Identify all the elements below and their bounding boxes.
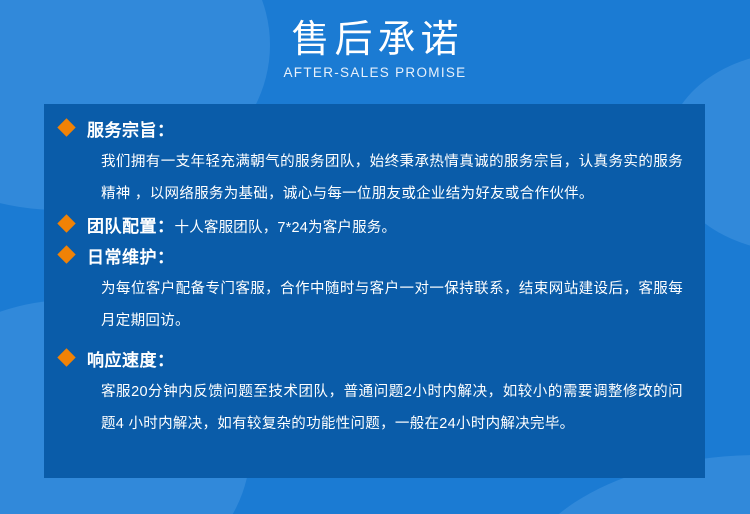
after-sales-promise-banner: 售后承诺 AFTER-SALES PROMISE 服务宗旨： 我们拥有一支年轻充… <box>0 0 750 514</box>
promise-section: 服务宗旨： 我们拥有一支年轻充满朝气的服务团队，始终秉承热情真诚的服务宗旨，认真… <box>60 116 683 210</box>
diamond-bullet-icon <box>57 245 75 263</box>
section-body: 客服20分钟内反馈问题至技术团队，普通问题2小时内解决，如较小的需要调整修改的问… <box>60 376 683 440</box>
spacer <box>60 337 683 346</box>
page-title: 售后承诺 <box>0 16 750 62</box>
promise-section: 日常维护： 为每位客户配备专门客服，合作中随时与客户一对一保持联系，结束网站建设… <box>60 243 683 337</box>
section-heading: 响应速度： <box>60 346 683 376</box>
diamond-bullet-icon <box>57 348 75 366</box>
section-title: 响应速度： <box>87 346 175 376</box>
page-subtitle: AFTER-SALES PROMISE <box>0 64 750 82</box>
section-title: 日常维护： <box>87 243 175 273</box>
promise-content-panel: 服务宗旨： 我们拥有一支年轻充满朝气的服务团队，始终秉承热情真诚的服务宗旨，认真… <box>44 104 705 478</box>
banner-header: 售后承诺 AFTER-SALES PROMISE <box>0 16 750 82</box>
diamond-bullet-icon <box>57 214 75 232</box>
section-body: 我们拥有一支年轻充满朝气的服务团队，始终秉承热情真诚的服务宗旨，认真务实的服务精… <box>60 146 683 210</box>
section-body: 为每位客户配备专门客服，合作中随时与客户一对一保持联系，结束网站建设后，客服每月… <box>60 273 683 337</box>
section-heading: 团队配置： 十人客服团队，7*24为客户服务。 <box>60 212 683 243</box>
promise-section: 团队配置： 十人客服团队，7*24为客户服务。 <box>60 212 683 243</box>
section-title: 服务宗旨： <box>87 116 175 146</box>
section-heading: 日常维护： <box>60 243 683 273</box>
promise-section: 响应速度： 客服20分钟内反馈问题至技术团队，普通问题2小时内解决，如较小的需要… <box>60 346 683 440</box>
section-inline-text: 十人客服团队，7*24为客户服务。 <box>175 213 397 243</box>
diamond-bullet-icon <box>57 118 75 136</box>
section-title: 团队配置： <box>87 212 175 242</box>
section-heading: 服务宗旨： <box>60 116 683 146</box>
